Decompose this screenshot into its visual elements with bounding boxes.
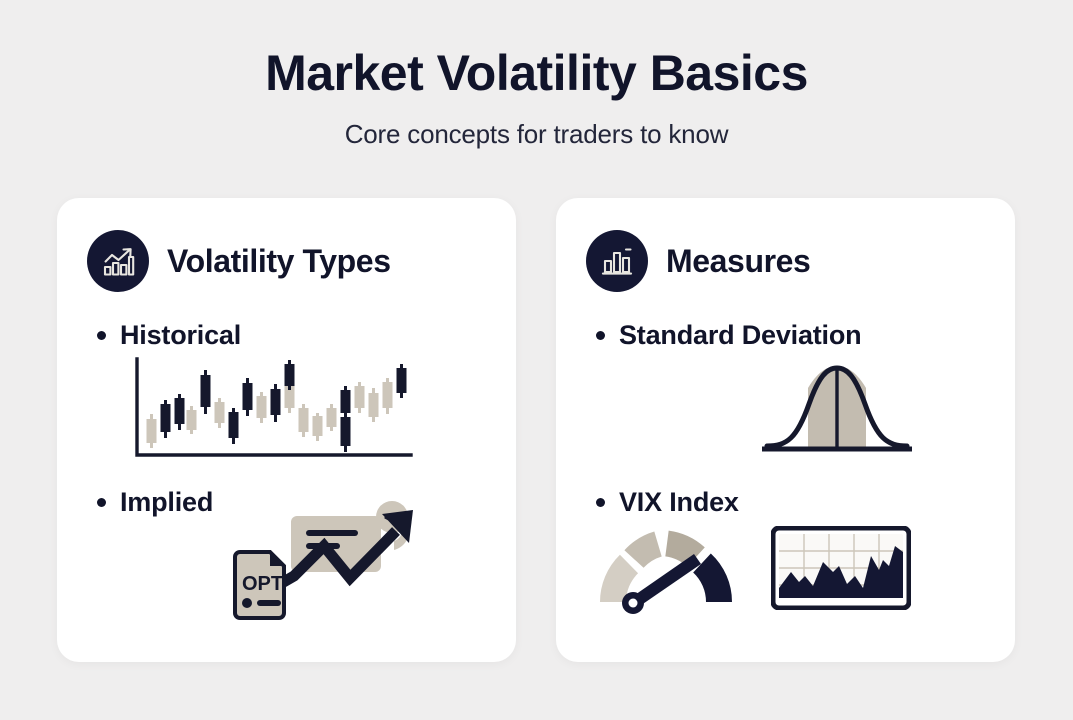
bullet-dot-icon [97,498,106,507]
card-volatility-types[interactable]: Volatility Types Historical [57,198,516,662]
bullet-dot-icon [596,331,605,340]
bullet-label: VIX Index [619,487,739,518]
page-subtitle: Core concepts for traders to know [0,119,1073,150]
options-document-arrow-illustration: OPT [232,498,437,623]
bullet-dot-icon [596,498,605,507]
bar-chart-uptrend-icon [87,230,149,292]
bar-chart-icon [586,230,648,292]
card-header-volatility-types: Volatility Types [87,230,391,292]
card-grid: Volatility Types Historical [57,198,1016,662]
bullet-label: Historical [120,320,241,351]
bullet-label: Standard Deviation [619,320,861,351]
document-text: OPT [242,573,283,595]
bell-curve-illustration [761,358,913,456]
bullet-standard-deviation: Standard Deviation [596,320,861,351]
card-header-measures: Measures [586,230,810,292]
gauge-illustration [591,516,741,614]
bullet-historical: Historical [97,320,241,351]
market-screen-illustration [771,526,911,610]
card-measures[interactable]: Measures Standard Deviation VIX Index [556,198,1015,662]
bullet-vix-index: VIX Index [596,487,739,518]
bullet-label: Implied [120,487,213,518]
candlestick-chart-illustration [132,356,414,461]
bullet-dot-icon [97,331,106,340]
card-title-volatility-types: Volatility Types [167,243,391,280]
poster-page: Market Volatility Basics Core concepts f… [0,0,1073,720]
page-title: Market Volatility Basics [0,46,1073,101]
bullet-implied: Implied [97,487,213,518]
page-header: Market Volatility Basics Core concepts f… [0,46,1073,150]
card-title-measures: Measures [666,243,810,280]
